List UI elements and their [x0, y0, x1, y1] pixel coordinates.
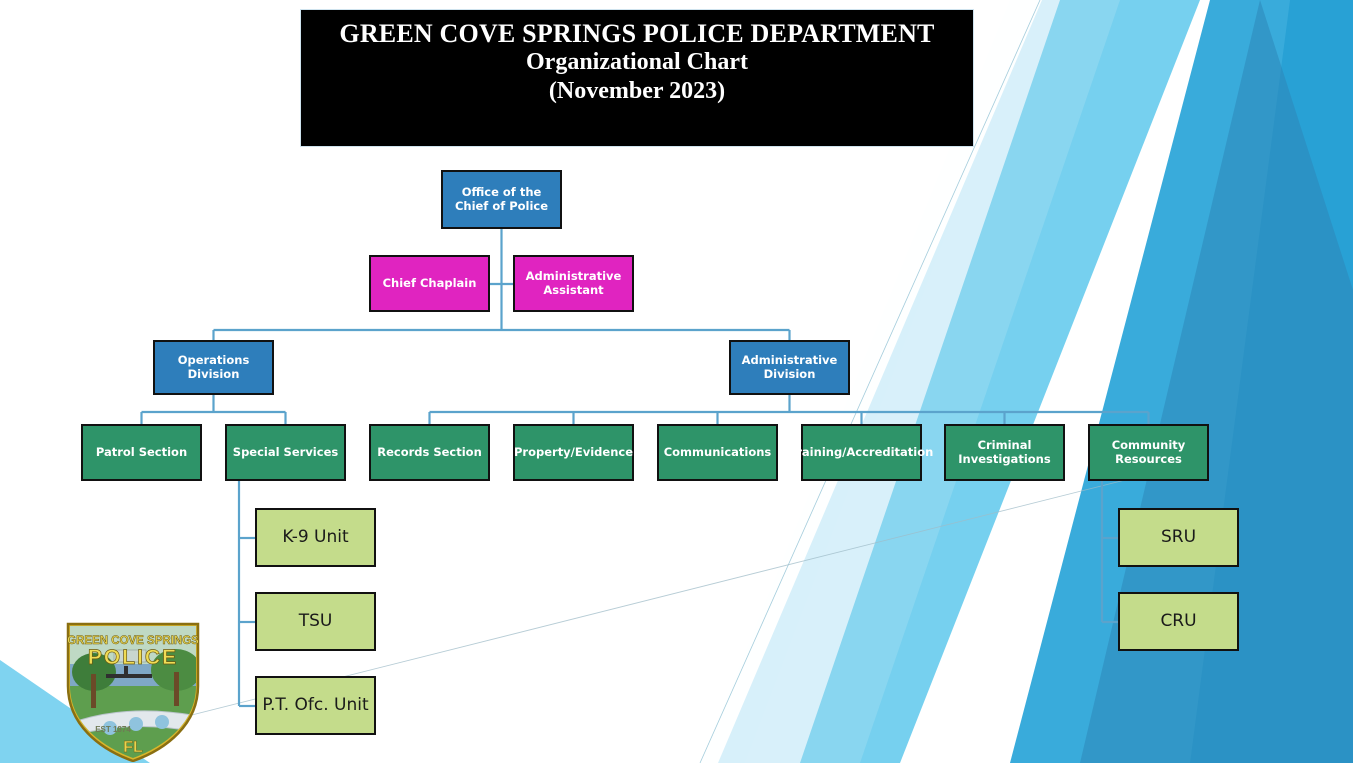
badge-bridge-arch-3 [155, 715, 169, 729]
node-community-resources[interactable]: Community Resources [1088, 424, 1209, 481]
node-communications[interactable]: Communications [657, 424, 778, 481]
badge-state-text: FL [123, 739, 143, 756]
node-property-evidence[interactable]: Property/Evidence [513, 424, 634, 481]
badge-main-text: POLICE [88, 646, 178, 669]
node-special-services[interactable]: Special Services [225, 424, 346, 481]
node-pt-ofc-unit[interactable]: P.T. Ofc. Unit [255, 676, 376, 735]
badge-est-text: EST 1874 [95, 725, 131, 734]
slide-canvas: GREEN COVE SPRINGS POLICE DEPARTMENT Org… [0, 0, 1353, 763]
node-k9-unit[interactable]: K-9 Unit [255, 508, 376, 567]
node-training-accreditation[interactable]: Training/Accreditation [801, 424, 922, 481]
badge-trunk-right [174, 672, 179, 706]
node-records-section[interactable]: Records Section [369, 424, 490, 481]
node-cru[interactable]: CRU [1118, 592, 1239, 651]
badge-bridge-arch-2 [129, 717, 143, 731]
node-administrative-division[interactable]: Administrative Division [729, 340, 850, 395]
node-operations-division[interactable]: Operations Division [153, 340, 274, 395]
node-office-of-the-chief-of-police[interactable]: Office of the Chief of Police [441, 170, 562, 229]
node-sru[interactable]: SRU [1118, 508, 1239, 567]
node-tsu[interactable]: TSU [255, 592, 376, 651]
node-chief-chaplain[interactable]: Chief Chaplain [369, 255, 490, 312]
police-badge-icon: GREEN COVE SPRINGS POLICE EST 1874 FL [58, 612, 208, 762]
node-administrative-assistant[interactable]: Administrative Assistant [513, 255, 634, 312]
node-patrol-section[interactable]: Patrol Section [81, 424, 202, 481]
node-criminal-investigations[interactable]: Criminal Investigations [944, 424, 1065, 481]
badge-trunk-left [91, 674, 96, 708]
badge-pier [106, 674, 152, 678]
